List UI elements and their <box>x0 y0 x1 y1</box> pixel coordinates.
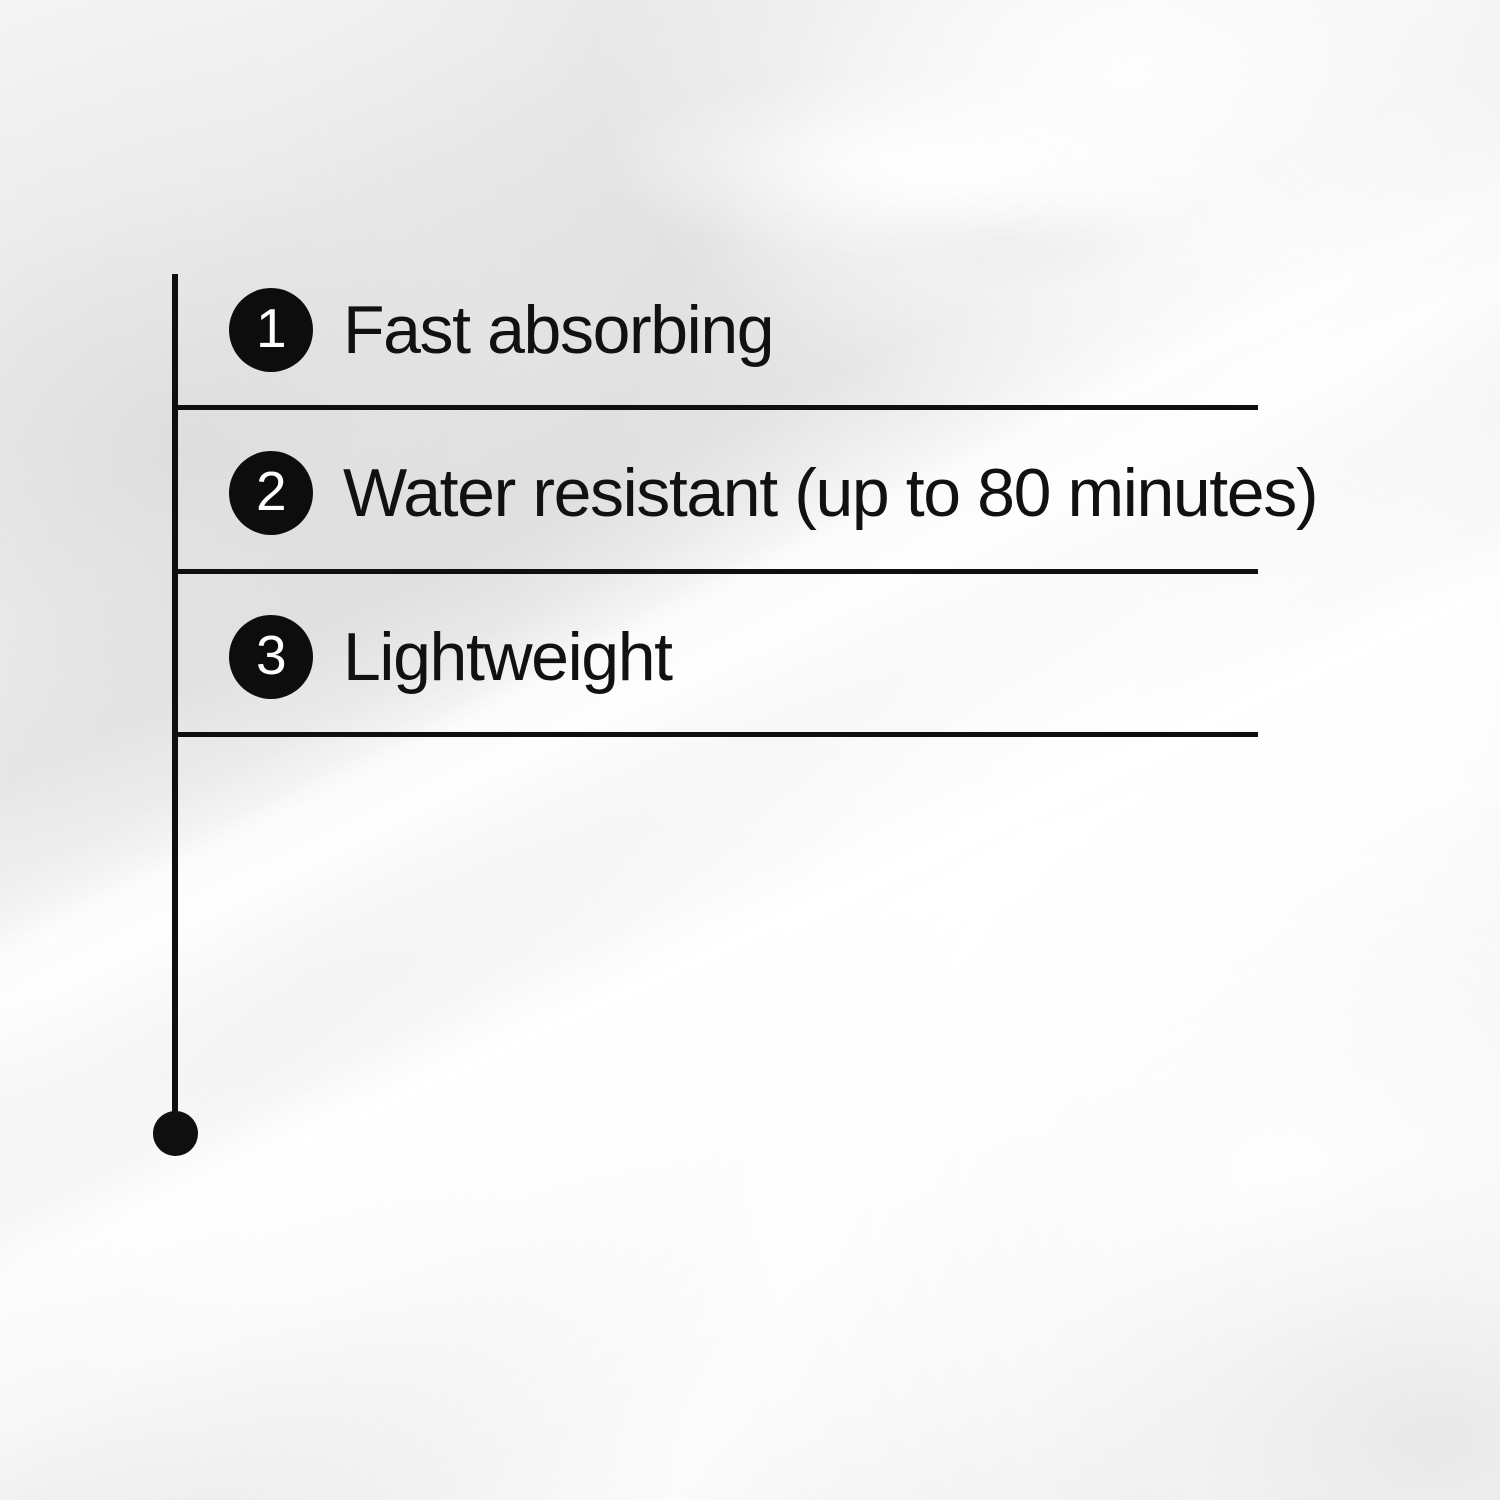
row-divider-1 <box>175 405 1258 410</box>
feature-label-3: Lightweight <box>343 623 672 691</box>
feature-label-1: Fast absorbing <box>343 296 773 364</box>
vertical-axis-line <box>172 274 178 1134</box>
feature-row-1: 1 Fast absorbing <box>175 285 773 375</box>
number-badge-3: 3 <box>229 615 313 699</box>
feature-list: 1 Fast absorbing 2 Water resistant (up t… <box>0 0 1500 1500</box>
row-divider-2 <box>175 569 1258 574</box>
feature-row-3: 3 Lightweight <box>175 612 672 702</box>
number-badge-2: 2 <box>229 451 313 535</box>
axis-terminator-dot <box>153 1111 198 1156</box>
product-feature-graphic: 1 Fast absorbing 2 Water resistant (up t… <box>0 0 1500 1500</box>
feature-row-2: 2 Water resistant (up to 80 minutes) <box>175 448 1317 538</box>
row-divider-3 <box>175 732 1258 737</box>
feature-label-2: Water resistant (up to 80 minutes) <box>343 459 1317 527</box>
number-badge-1: 1 <box>229 288 313 372</box>
